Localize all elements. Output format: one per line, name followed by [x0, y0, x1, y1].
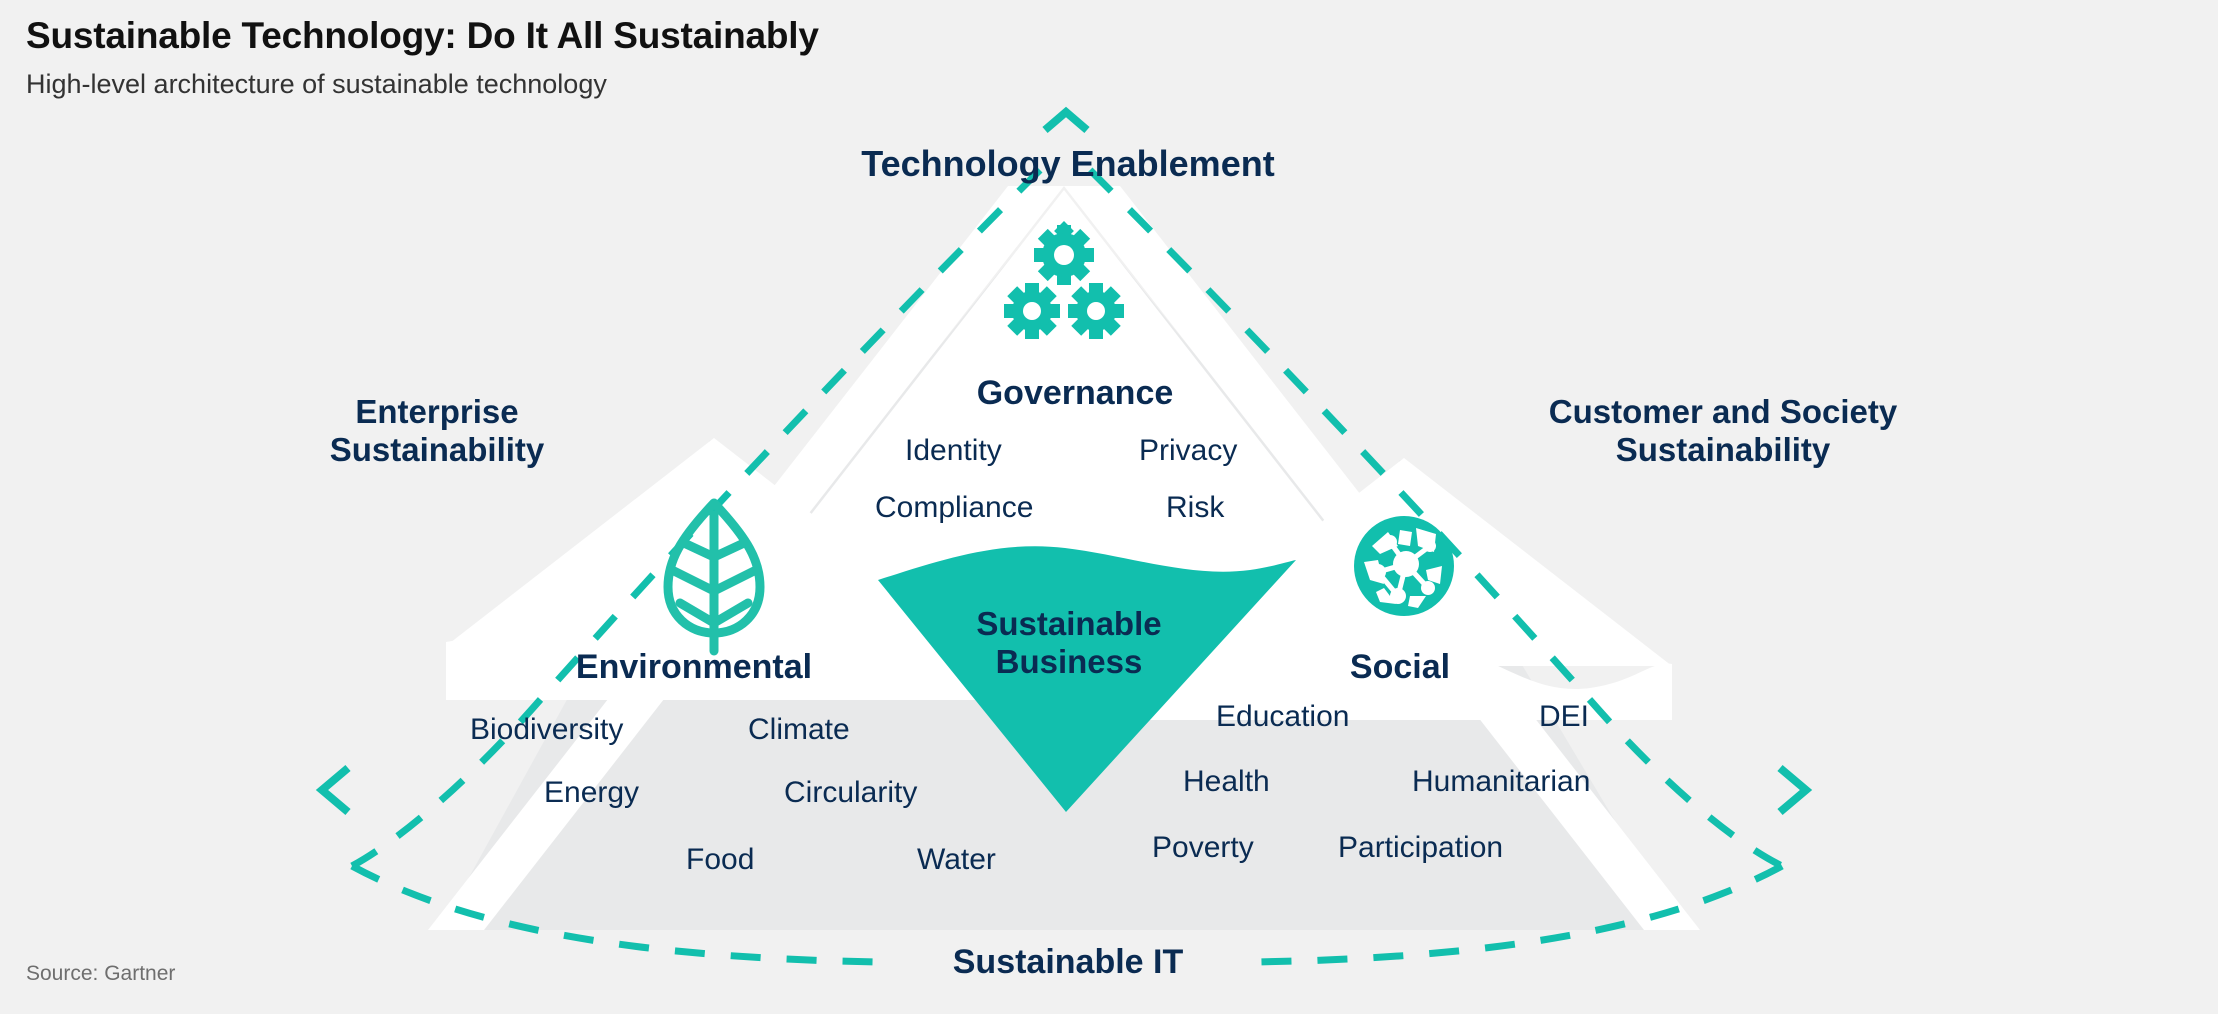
chevron-right-icon — [1780, 768, 1806, 812]
pillar-item-biodiversity: Biodiversity — [470, 713, 623, 748]
pillar-item-identity: Identity — [905, 434, 1002, 469]
chevron-up-icon — [1045, 112, 1087, 130]
axis-label-left: Enterprise Sustainability — [330, 393, 545, 470]
pillar-title-governance: Governance — [977, 374, 1174, 413]
page-subtitle: High-level architecture of sustainable t… — [26, 68, 819, 100]
axis-label-bottom: Sustainable IT — [953, 943, 1184, 982]
source-credit: Source: Gartner — [26, 962, 175, 986]
pillar-item-poverty: Poverty — [1152, 831, 1254, 866]
pillar-item-climate: Climate — [748, 713, 850, 748]
header-block: Sustainable Technology: Do It All Sustai… — [26, 14, 819, 101]
pillar-item-dei: DEI — [1539, 700, 1589, 735]
axis-label-left-line2: Sustainability — [330, 431, 545, 469]
axis-label-left-line1: Enterprise — [330, 393, 545, 431]
pillar-item-education: Education — [1216, 700, 1349, 735]
pillar-item-humanitarian: Humanitarian — [1412, 765, 1590, 800]
core-label-sustainable-business: Sustainable Business — [976, 605, 1161, 682]
core-label-line2: Business — [976, 643, 1161, 681]
pillar-item-circularity: Circularity — [784, 776, 917, 811]
chevron-left-icon — [322, 768, 348, 812]
pillar-item-food: Food — [686, 843, 754, 878]
pillar-item-energy: Energy — [544, 776, 639, 811]
pillar-item-risk: Risk — [1166, 491, 1224, 526]
axis-label-right-line1: Customer and Society — [1549, 393, 1897, 431]
pillar-item-participation: Participation — [1338, 831, 1503, 866]
axis-label-top: Technology Enablement — [861, 143, 1274, 185]
pillar-item-privacy: Privacy — [1139, 434, 1237, 469]
pillar-item-compliance: Compliance — [875, 491, 1033, 526]
diagram-canvas: Sustainable Technology: Do It All Sustai… — [0, 0, 2218, 1014]
pillar-title-social: Social — [1350, 648, 1450, 687]
pillar-item-health: Health — [1183, 765, 1270, 800]
pillar-title-environmental: Environmental — [576, 648, 812, 687]
core-label-line1: Sustainable — [976, 605, 1161, 643]
pillar-item-water: Water — [917, 843, 996, 878]
network-globe-icon — [1354, 516, 1454, 616]
axis-label-right: Customer and Society Sustainability — [1549, 393, 1897, 470]
page-title: Sustainable Technology: Do It All Sustai… — [26, 14, 819, 58]
axis-label-right-line2: Sustainability — [1549, 431, 1897, 469]
